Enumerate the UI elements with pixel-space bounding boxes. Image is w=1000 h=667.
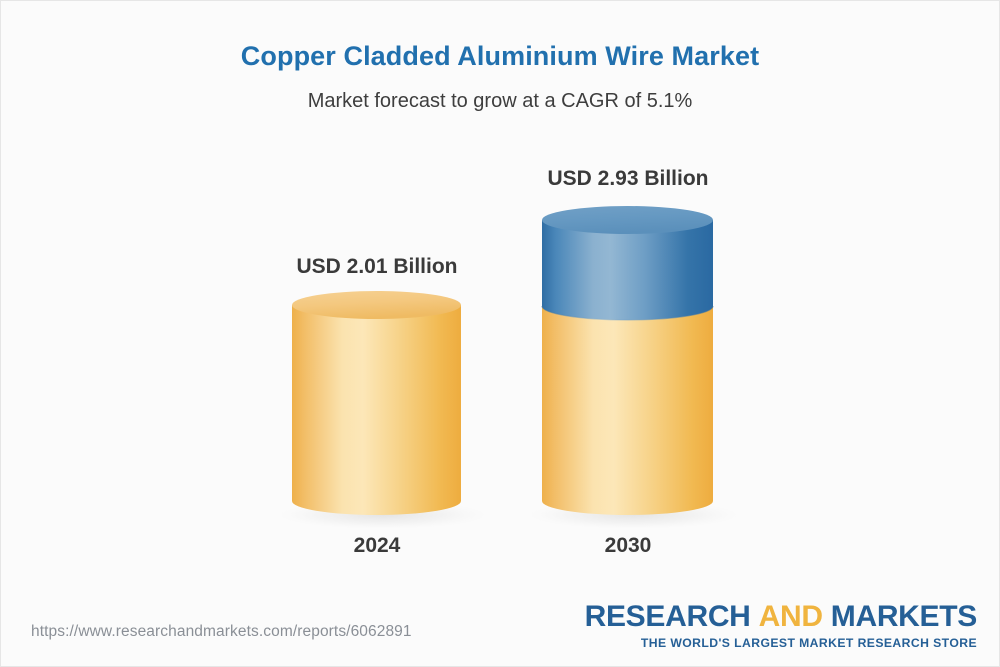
bar-value-label-2024: USD 2.01 Billion — [237, 255, 517, 279]
bar-2030-top-cap — [542, 206, 713, 234]
bar-value-label-2030: USD 2.93 Billion — [488, 167, 768, 191]
brand-word-and: AND — [759, 600, 823, 633]
bar-category-label-2024: 2024 — [237, 534, 517, 558]
bar-2024-top-cap — [292, 291, 461, 319]
bar-2030[interactable] — [542, 206, 713, 515]
bar-2030-body-lower — [542, 306, 713, 515]
brand-tagline: THE WORLD'S LARGEST MARKET RESEARCH STOR… — [585, 636, 977, 650]
brand-logo[interactable]: RESEARCH AND MARKETS THE WORLD'S LARGEST… — [585, 601, 977, 650]
bar-2024-body — [292, 305, 461, 515]
brand-word-markets: MARKETS — [831, 600, 977, 633]
chart-plot-area — [1, 1, 1000, 667]
brand-wordmark: RESEARCH AND MARKETS — [585, 601, 977, 633]
bar-2030-body-upper — [542, 220, 713, 320]
chart-canvas: Copper Cladded Aluminium Wire Market Mar… — [0, 0, 1000, 667]
bar-category-label-2030: 2030 — [488, 534, 768, 558]
source-url[interactable]: https://www.researchandmarkets.com/repor… — [31, 623, 412, 641]
brand-word-research: RESEARCH — [585, 600, 751, 633]
bar-2024[interactable] — [292, 291, 461, 515]
